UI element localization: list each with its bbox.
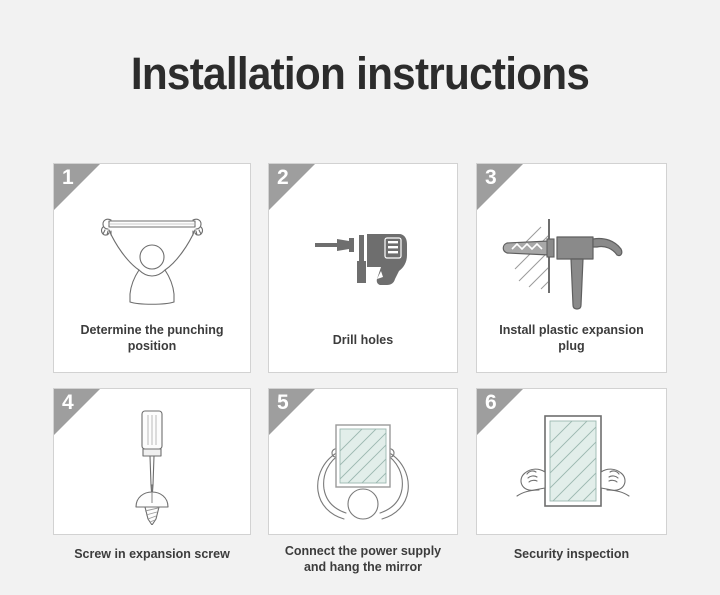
step-caption-5: Connect the power supply and hang the mi…: [268, 543, 458, 575]
step-caption-6: Security inspection: [476, 546, 667, 562]
step-cell-4: 4: [53, 388, 251, 535]
corner-ribbon-1: [54, 164, 100, 210]
step-card-3[interactable]: 3: [476, 163, 667, 373]
step-cell-5: 5: [268, 388, 458, 535]
step-number-1: 1: [62, 167, 74, 188]
step-cell-2: 2: [268, 163, 458, 373]
power-drill-icon: [269, 212, 457, 308]
mirror-with-hands-icon: [477, 407, 666, 529]
step-card-1[interactable]: 1: [53, 163, 251, 373]
hammer-and-wall-plug-icon: [477, 210, 666, 314]
step-card-4[interactable]: 4: [53, 388, 251, 535]
step-card-6[interactable]: 6: [476, 388, 667, 535]
step-caption-4: Screw in expansion screw: [53, 546, 251, 562]
person-holding-ruler-icon: [54, 208, 250, 308]
screwdriver-and-screw-icon: [54, 405, 250, 527]
step-cell-3: 3: [476, 163, 667, 373]
steps-grid: 1: [0, 0, 720, 595]
corner-ribbon-3: [477, 164, 523, 210]
step-number-3: 3: [485, 167, 497, 188]
step-caption-1: Determine the punching position: [54, 322, 250, 354]
installation-instructions-page: Installation instructions 1: [0, 0, 720, 595]
step-cell-1: 1: [53, 163, 251, 373]
step-caption-3: Install plastic expansion plug: [477, 322, 666, 354]
corner-ribbon-2: [269, 164, 315, 210]
step-cell-6: 6: [476, 388, 667, 535]
person-hanging-mirror-icon: [269, 407, 457, 529]
step-number-2: 2: [277, 167, 289, 188]
step-caption-2: Drill holes: [269, 332, 457, 348]
step-card-2[interactable]: 2: [268, 163, 458, 373]
step-card-5[interactable]: 5: [268, 388, 458, 535]
